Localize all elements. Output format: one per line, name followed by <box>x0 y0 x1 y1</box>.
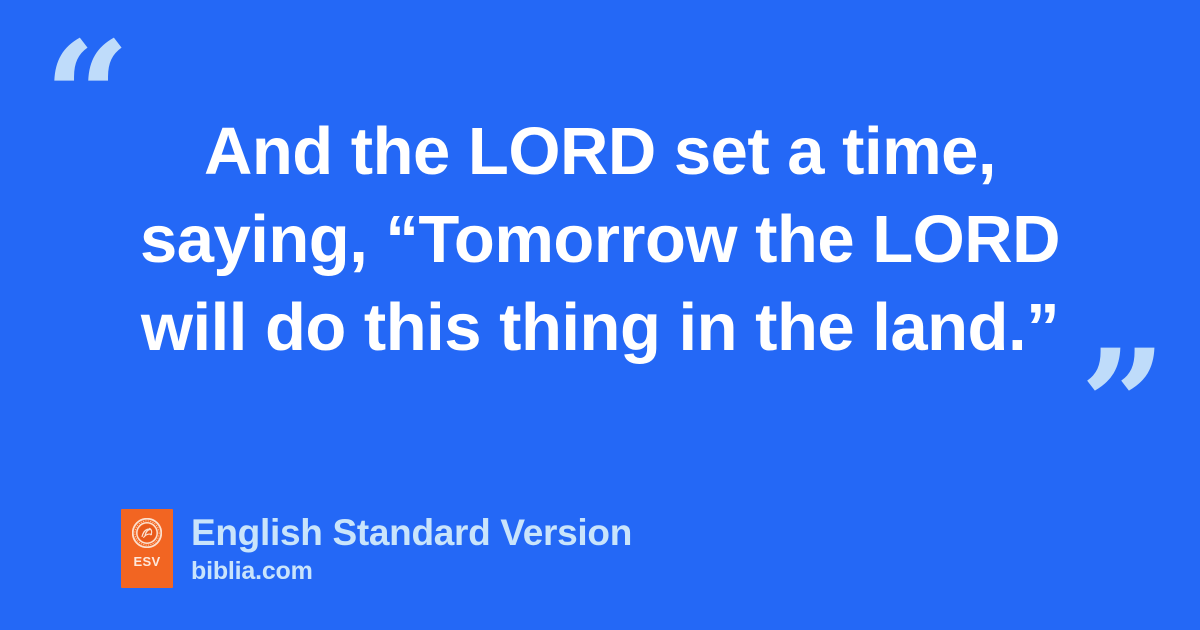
bible-verse-card: “ And the LORD set a time, saying, “Tomo… <box>0 0 1200 630</box>
verse-line-1: And the LORD set a time, <box>0 108 1200 196</box>
attribution-text: English Standard Version biblia.com <box>191 509 632 586</box>
verse-line-3: will do this thing in the land.” <box>0 284 1200 372</box>
verse-line-2: saying, “Tomorrow the LORD <box>0 196 1200 284</box>
esv-seal-icon <box>132 518 162 548</box>
closing-quote-icon: ” <box>1080 330 1166 480</box>
bible-version-name: English Standard Version <box>191 511 632 555</box>
site-url[interactable]: biblia.com <box>191 556 632 586</box>
attribution: ESV English Standard Version biblia.com <box>121 509 632 588</box>
esv-logo: ESV <box>121 509 173 588</box>
verse-text-block: And the LORD set a time, saying, “Tomorr… <box>0 108 1200 372</box>
esv-logo-label: ESV <box>134 555 161 568</box>
